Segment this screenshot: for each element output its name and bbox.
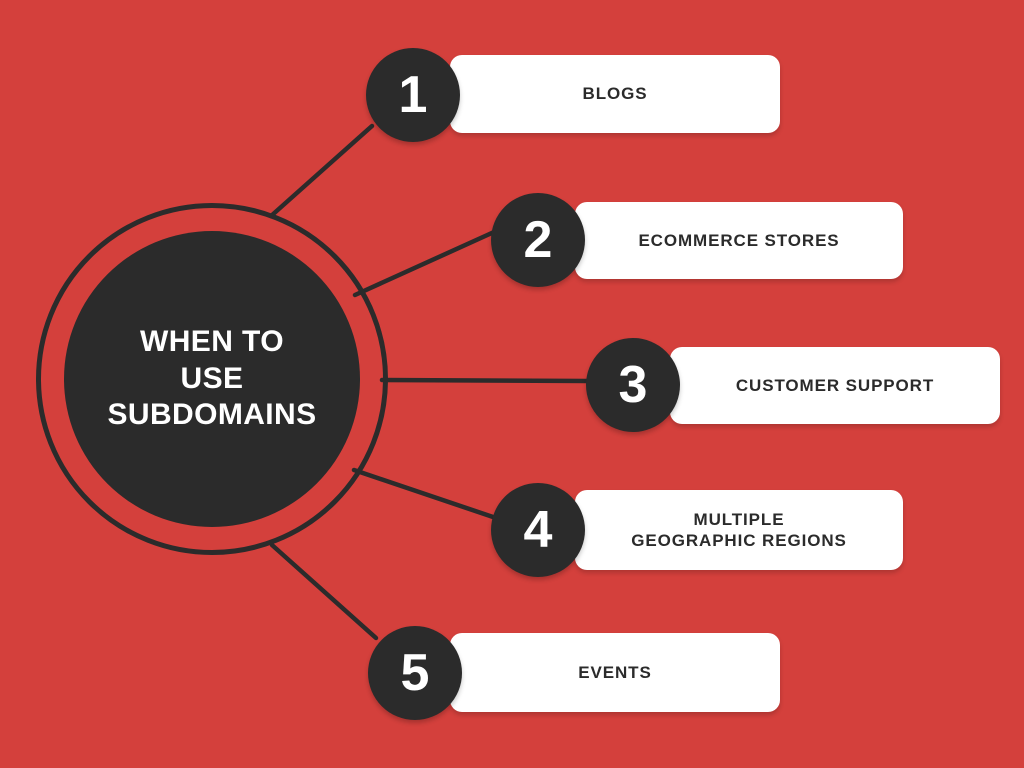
connector-line-3	[382, 380, 588, 381]
item-card-1[interactable]: BLOGS	[450, 55, 780, 133]
item-label-4-line-2: GEOGRAPHIC REGIONS	[631, 530, 847, 551]
item-badge-3[interactable]: 3	[586, 338, 680, 432]
item-number-1: 1	[399, 69, 428, 121]
item-number-3: 3	[619, 359, 648, 411]
item-label-4-line-1: MULTIPLE	[631, 509, 847, 530]
item-card-2[interactable]: ECOMMERCE STORES	[575, 202, 903, 279]
item-number-5: 5	[401, 647, 430, 699]
hub-circle: WHEN TO USE SUBDOMAINS	[64, 231, 360, 527]
connector-line-1	[271, 126, 372, 216]
connector-line-2	[355, 232, 494, 295]
item-label-3: CUSTOMER SUPPORT	[720, 375, 950, 396]
item-label-5: EVENTS	[562, 662, 667, 683]
hub-title-line-3: SUBDOMAINS	[107, 397, 316, 434]
item-card-3[interactable]: CUSTOMER SUPPORT	[670, 347, 1000, 424]
item-badge-5[interactable]: 5	[368, 626, 462, 720]
hub-title-line-1: WHEN TO	[107, 324, 316, 361]
item-number-4: 4	[524, 504, 553, 556]
item-label-2-line-1: ECOMMERCE STORES	[638, 230, 839, 251]
hub-title-line-2: USE	[107, 361, 316, 398]
item-badge-4[interactable]: 4	[491, 483, 585, 577]
item-label-3-line-1: CUSTOMER SUPPORT	[736, 375, 934, 396]
item-card-4[interactable]: MULTIPLE GEOGRAPHIC REGIONS	[575, 490, 903, 570]
item-badge-2[interactable]: 2	[491, 193, 585, 287]
item-label-1-line-1: BLOGS	[583, 83, 648, 104]
item-number-2: 2	[524, 214, 553, 266]
item-card-5[interactable]: EVENTS	[450, 633, 780, 712]
item-label-2: ECOMMERCE STORES	[622, 230, 855, 251]
item-badge-1[interactable]: 1	[366, 48, 460, 142]
hub-title: WHEN TO USE SUBDOMAINS	[93, 324, 330, 434]
item-label-5-line-1: EVENTS	[578, 662, 651, 683]
item-label-1: BLOGS	[567, 83, 664, 104]
infographic-canvas: WHEN TO USE SUBDOMAINS BLOGS 1 ECOMMERCE…	[0, 0, 1024, 768]
item-label-4: MULTIPLE GEOGRAPHIC REGIONS	[615, 509, 863, 552]
connector-line-5	[272, 545, 376, 638]
connector-line-4	[354, 470, 496, 518]
